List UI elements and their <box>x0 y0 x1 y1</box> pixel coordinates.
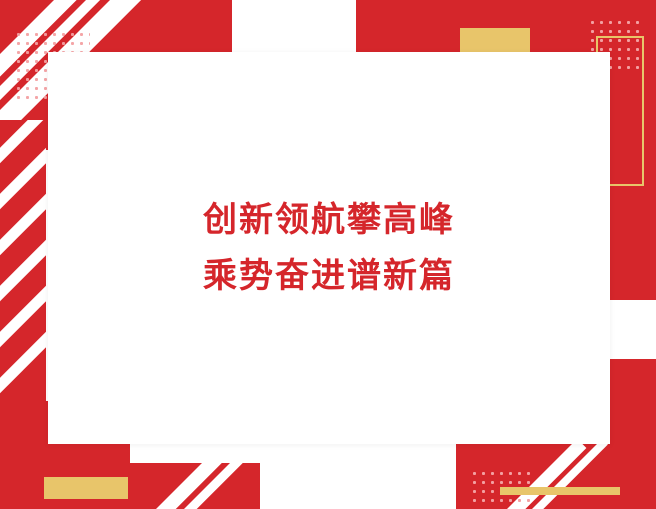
poster-title: 创新领航攀高峰 乘势奋进谱新篇 <box>48 52 610 444</box>
bottom-red-bar <box>0 463 260 509</box>
bottom-right-gold-bar <box>500 487 620 495</box>
poster-canvas: 创新领航攀高峰 乘势奋进谱新篇 <box>0 0 656 509</box>
title-line-2: 乘势奋进谱新篇 <box>203 259 455 293</box>
left-stripe-band <box>0 120 46 410</box>
title-line-1: 创新领航攀高峰 <box>203 203 455 237</box>
bottom-right-dot-pattern <box>470 469 536 503</box>
bottom-left-gold-bar <box>44 477 128 499</box>
